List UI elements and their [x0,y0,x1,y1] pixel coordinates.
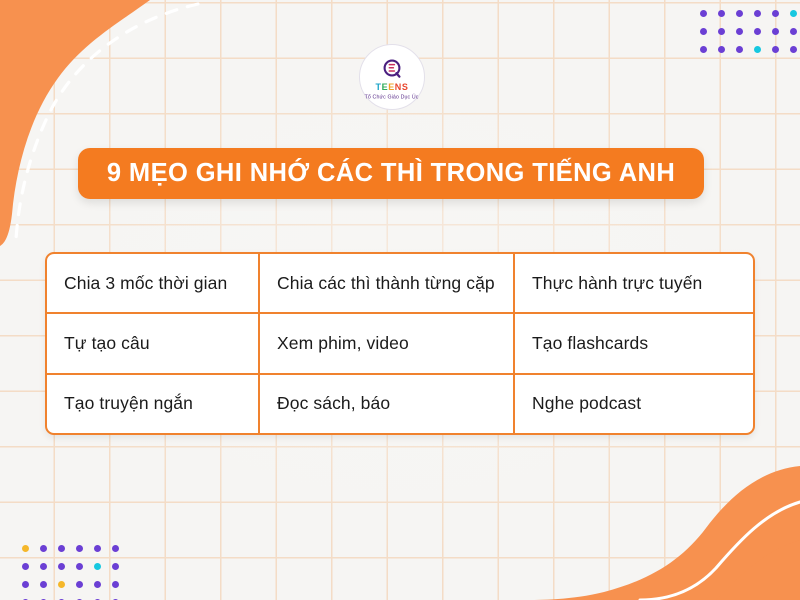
logo-letter-n: N [395,82,402,92]
table-cell: Thực hành trực tuyến [515,254,753,312]
infographic-canvas: TEENS Tổ Chức Giáo Dục Úc 9 MẸO GHI NHỚ … [0,0,800,600]
logo-letter-s: S [402,82,409,92]
table-row: Tự tạo câu Xem phim, video Tạo flashcard… [47,314,753,374]
tips-table: Chia 3 mốc thời gian Chia các thì thành … [45,252,755,435]
logo-tagline: Tổ Chức Giáo Dục Úc [365,93,419,99]
table-cell: Tự tạo câu [47,314,260,372]
title-banner: 9 MẸO GHI NHỚ CÁC THÌ TRONG TIẾNG ANH [78,148,704,199]
logo-brand-text: TEENS [375,83,408,92]
table-cell: Tạo flashcards [515,314,753,372]
table-cell: Xem phim, video [260,314,515,372]
logo-letter-e2: E [388,82,395,92]
table-cell: Đọc sách, báo [260,375,515,433]
table-cell: Chia các thì thành từng cặp [260,254,515,312]
page-title: 9 MẸO GHI NHỚ CÁC THÌ TRONG TIẾNG ANH [107,159,675,188]
table-cell: Chia 3 mốc thời gian [47,254,260,312]
table-row: Tạo truyện ngắn Đọc sách, báo Nghe podca… [47,375,753,433]
table-row: Chia 3 mốc thời gian Chia các thì thành … [47,254,753,314]
q-magnifier-icon [380,58,404,82]
brand-logo: TEENS Tổ Chức Giáo Dục Úc [359,44,425,110]
table-cell: Tạo truyện ngắn [47,375,260,433]
table-cell: Nghe podcast [515,375,753,433]
